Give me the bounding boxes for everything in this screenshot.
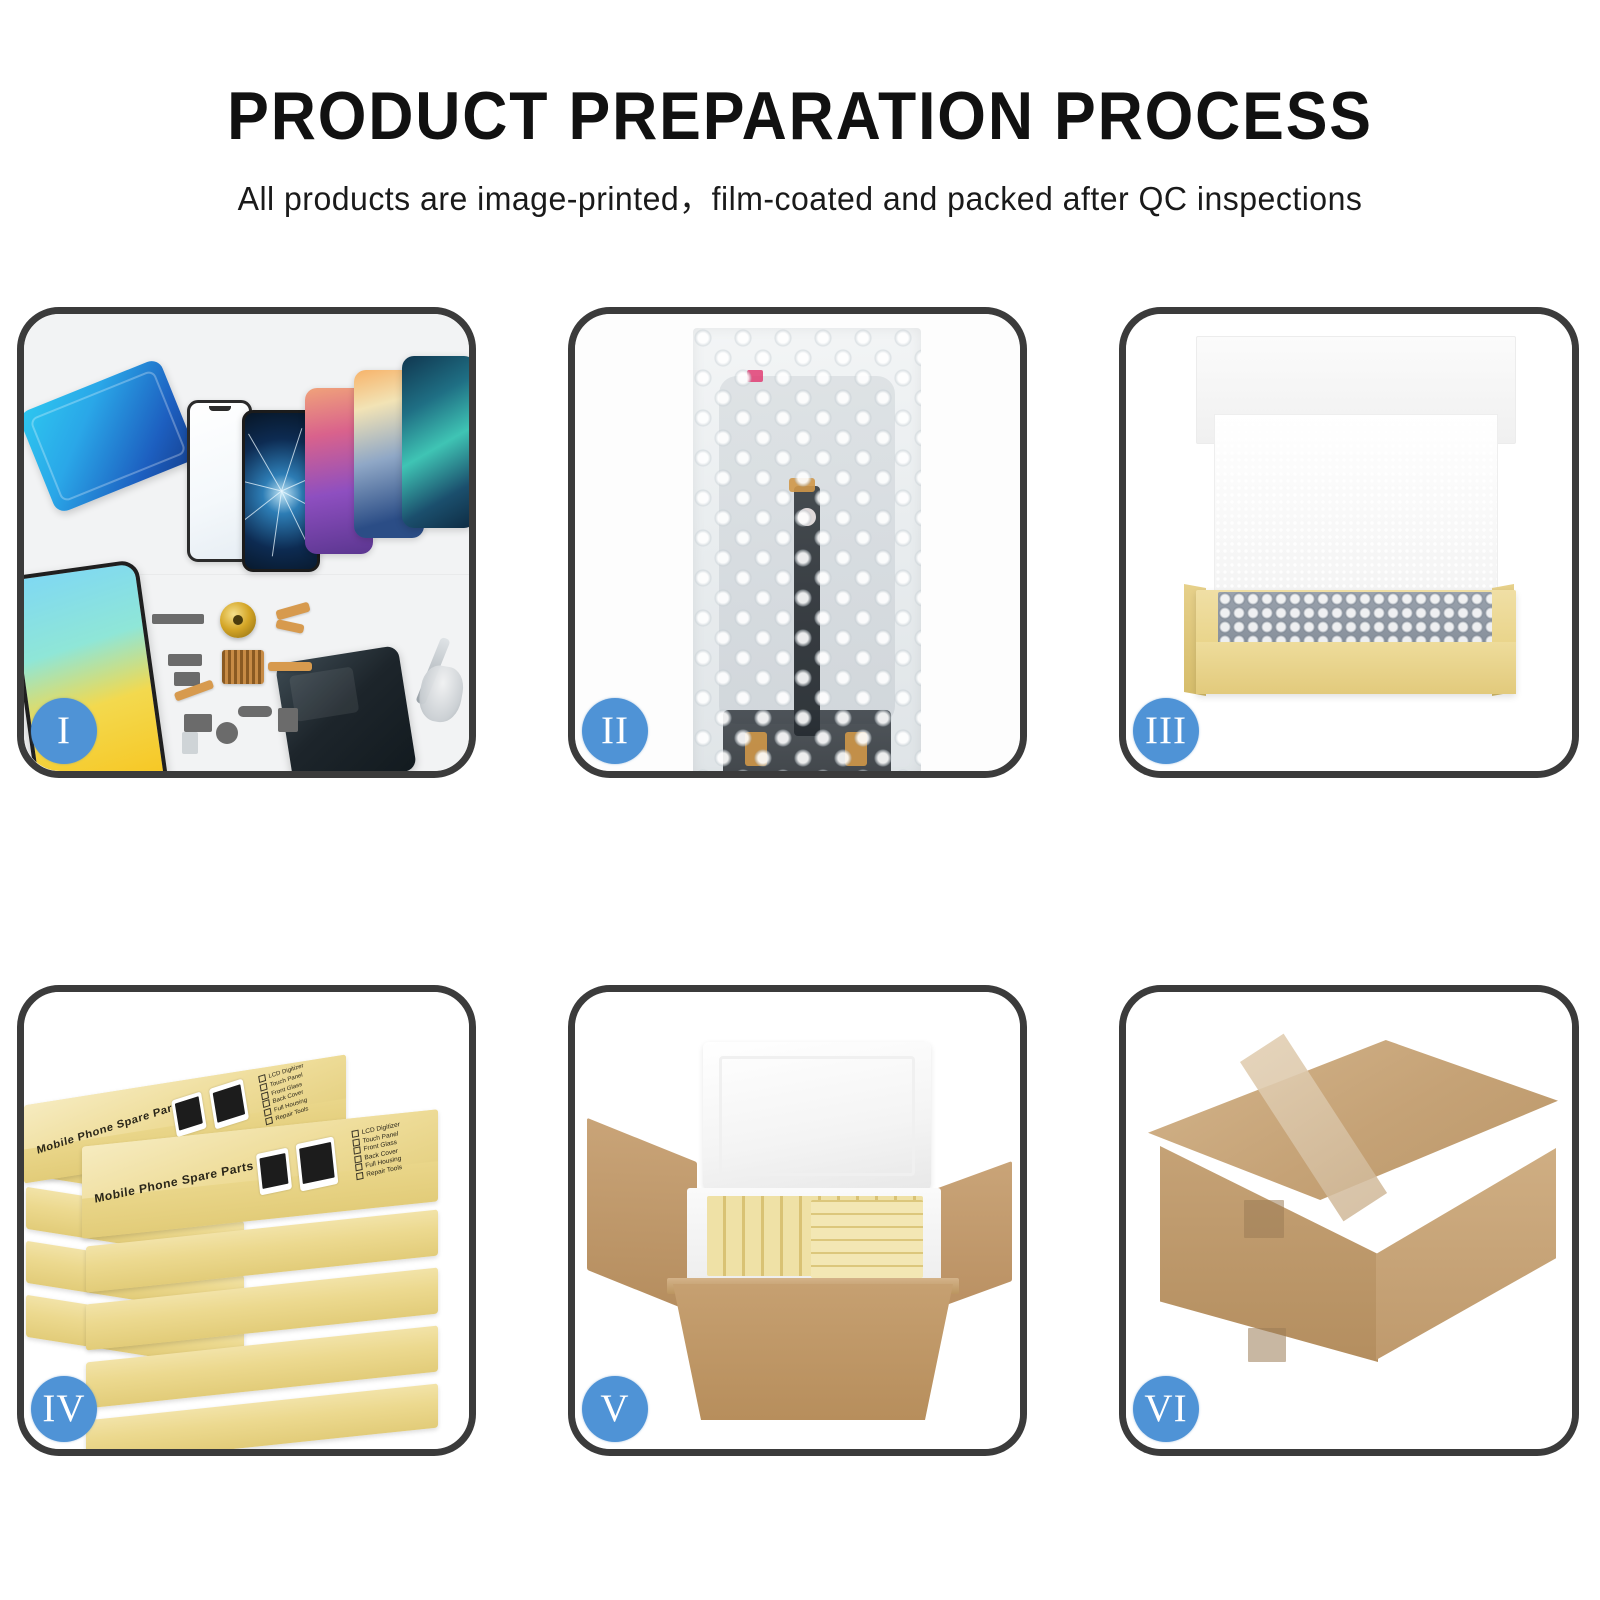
camera-module-part [184,714,212,732]
carton-body [673,1284,953,1420]
retail-box-stack: Mobile Phone Spare Parts LCD Digitizer T… [24,1028,469,1448]
vibrator-part [168,654,202,666]
step-badge-1: I [31,698,97,764]
step-badge-3: III [1133,698,1199,764]
page-title: PRODUCT PREPARATION PROCESS [64,0,1536,150]
cleaning-brush-tool [415,663,466,725]
carton-tape-tab-lower [1248,1328,1286,1362]
flex-cable-part-2 [275,619,304,634]
retail-box-phone-img-front-2 [296,1136,339,1191]
step-2-image [575,314,1020,771]
step-1-image [24,314,469,771]
home-button-part [216,722,238,744]
speaker-part [152,614,204,624]
sim-tray-part [182,732,198,754]
flex-cable-part-3 [268,662,312,671]
carton-tape-tab-upper [1244,1200,1284,1238]
earpiece-part [278,708,298,732]
sealed-carton [1148,1040,1558,1370]
retail-box-checklist-front: LCD Digitizer Touch Panel Front Glass Ba… [351,1121,404,1181]
battery-connector-part [238,706,272,717]
process-step-card-2[interactable]: II [568,307,1027,778]
process-step-card-6[interactable]: VI [1119,985,1579,1456]
foam-sheet [1214,414,1498,596]
step-5-image [575,992,1020,1449]
process-step-card-5[interactable]: V [568,985,1027,1456]
page-header: PRODUCT PREPARATION PROCESS All products… [0,0,1600,220]
retail-box-phone-img-rear-2 [209,1078,249,1129]
flex-cable-part-1 [275,602,310,621]
retail-box-phone-img-front-1 [256,1148,292,1196]
mailer-tray-front [1196,642,1516,694]
lcd-backplate-graphic [24,357,199,514]
carton-side-face [1376,1148,1556,1360]
process-step-card-1[interactable]: I [17,307,476,778]
teal-phone-graphic [402,356,469,528]
bubble-texture [693,328,921,771]
process-step-card-4[interactable]: Mobile Phone Spare Parts LCD Digitizer T… [17,985,476,1456]
foam-cooler-lid [703,1042,931,1190]
step-badge-4: IV [31,1376,97,1442]
step-badge-5: V [582,1376,648,1442]
process-step-card-3[interactable]: III [1119,307,1579,778]
packed-retail-boxes-row-2 [811,1200,923,1278]
step-3-image [1126,314,1572,771]
step-badge-2: II [582,698,648,764]
process-step-grid: I II III [17,307,1583,1456]
step-4-image: Mobile Phone Spare Parts LCD Digitizer T… [24,992,469,1449]
ic-chip-part [222,650,264,684]
retail-box-phone-img-rear-1 [171,1091,207,1137]
wireless-coil-part [220,602,256,638]
step-badge-6: VI [1133,1376,1199,1442]
step-6-image [1126,992,1572,1449]
bubble-wrap-pouch [693,328,921,771]
page-subtitle: All products are image-printed，film-coat… [24,150,1576,220]
